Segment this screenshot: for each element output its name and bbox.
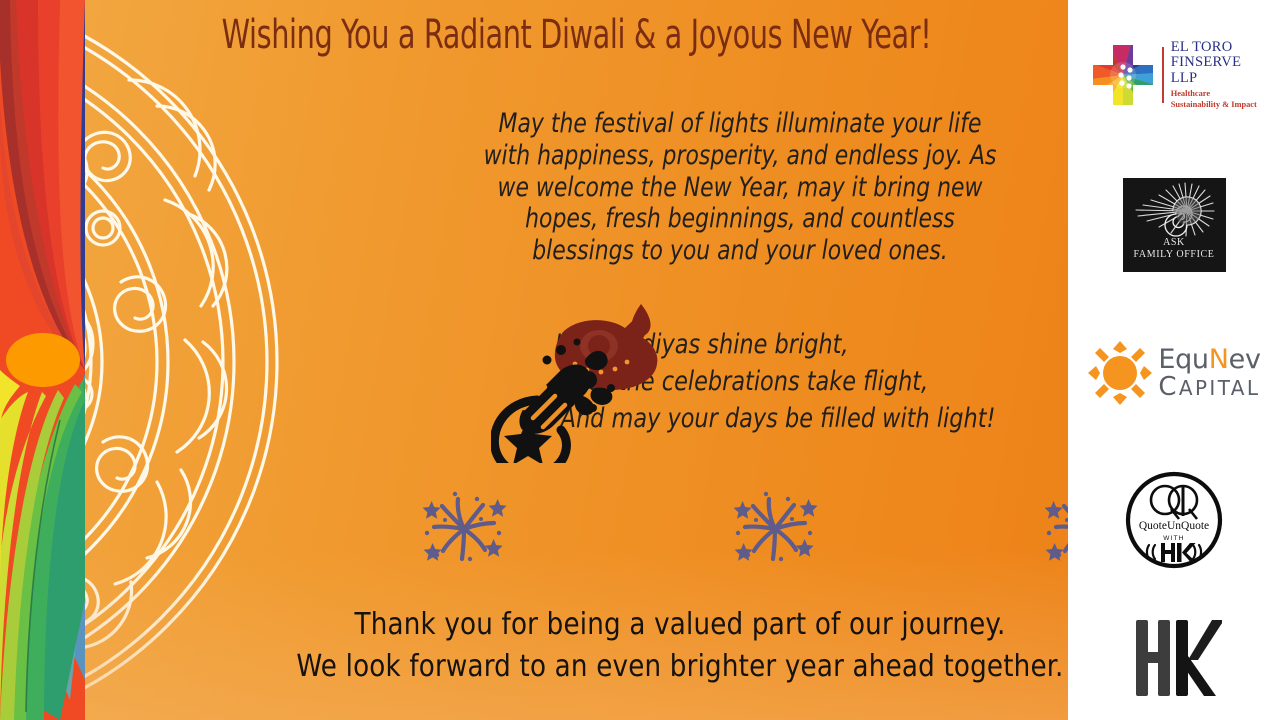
wish-line: we welcome the New Year, may it bring ne… [427,172,1053,204]
logo-name-line: FINSERVE [1171,55,1257,70]
wish-line: blessings to you and your loved ones. [427,235,1053,267]
rainbow-core-dot [6,333,80,387]
spiral-sunburst-icon [1133,181,1215,237]
firework-burst-icon [415,489,513,565]
logo-wordmark-primary: EquNev [1158,346,1260,373]
rainbow-cross-icon [1091,43,1155,107]
wish-line: hopes, fresh beginnings, and countless [427,203,1053,235]
page-title: Wishing You a Radiant Diwali & a Joyous … [183,14,969,56]
logo-wordmark-accent: N [1209,344,1229,375]
partner-logo-sidebar: EL TORO FINSERVE LLP Healthcare Sustaina… [1068,0,1280,720]
logo-equnev-capital: EquNev CAPITAL [1068,300,1280,445]
logo-tagline-line: Sustainability & Impact [1171,100,1257,111]
diya-lamp-cracker-icon [491,298,671,463]
wish-line: May the festival of lights illuminate yo… [427,108,1053,140]
circle-double-q-icon: QuoteUnQuote WITH [1125,471,1223,569]
greeting-panel: Wishing You a Radiant Diwali & a Joyous … [85,0,1068,720]
logo-name-line: EL TORO [1171,40,1257,55]
logo-name-line: FAMILY OFFICE [1134,249,1215,261]
logo-ask-family-office: ASK FAMILY OFFICE [1068,150,1280,300]
logo-with-label: WITH [1163,535,1184,542]
sun-burst-icon [1087,340,1153,406]
logo-wordmark-cap: C [1158,372,1179,402]
rainbow-swirl-mark [0,0,85,720]
logo-name-line: LLP [1171,71,1257,86]
hk-monogram-icon [1126,612,1222,704]
logo-divider [1162,47,1164,103]
firework-burst-icon [1037,489,1068,565]
logo-wordmark-secondary: CAPITAL [1158,374,1260,400]
logo-quoteunquote-with-hk: QuoteUnQuote WITH [1068,445,1280,595]
closing-line: Thank you for being a valued part of our… [287,604,1068,646]
diwali-greeting-card: Wishing You a Radiant Diwali & a Joyous … [0,0,1280,720]
logo-tagline-line: Healthcare [1171,89,1257,100]
wish-message: May the festival of lights illuminate yo… [427,108,1053,267]
firework-burst-icon [726,489,824,565]
logo-wordmark-part: Equ [1158,344,1208,375]
closing-line: We look forward to an even brighter year… [287,646,1068,688]
closing-message: Thank you for being a valued part of our… [287,604,1068,688]
logo-wordmark: QuoteUnQuote [1139,520,1209,532]
logo-wordmark-rest: APITAL [1179,376,1261,400]
wish-line: with happiness, prosperity, and endless … [427,140,1053,172]
firework-row [415,487,1068,567]
logo-wordmark-part: ev [1229,344,1261,375]
logo-el-toro-finserve-llp: EL TORO FINSERVE LLP Healthcare Sustaina… [1068,0,1280,150]
logo-hk-monogram [1068,595,1280,720]
logo-name-line: ASK [1134,237,1215,249]
